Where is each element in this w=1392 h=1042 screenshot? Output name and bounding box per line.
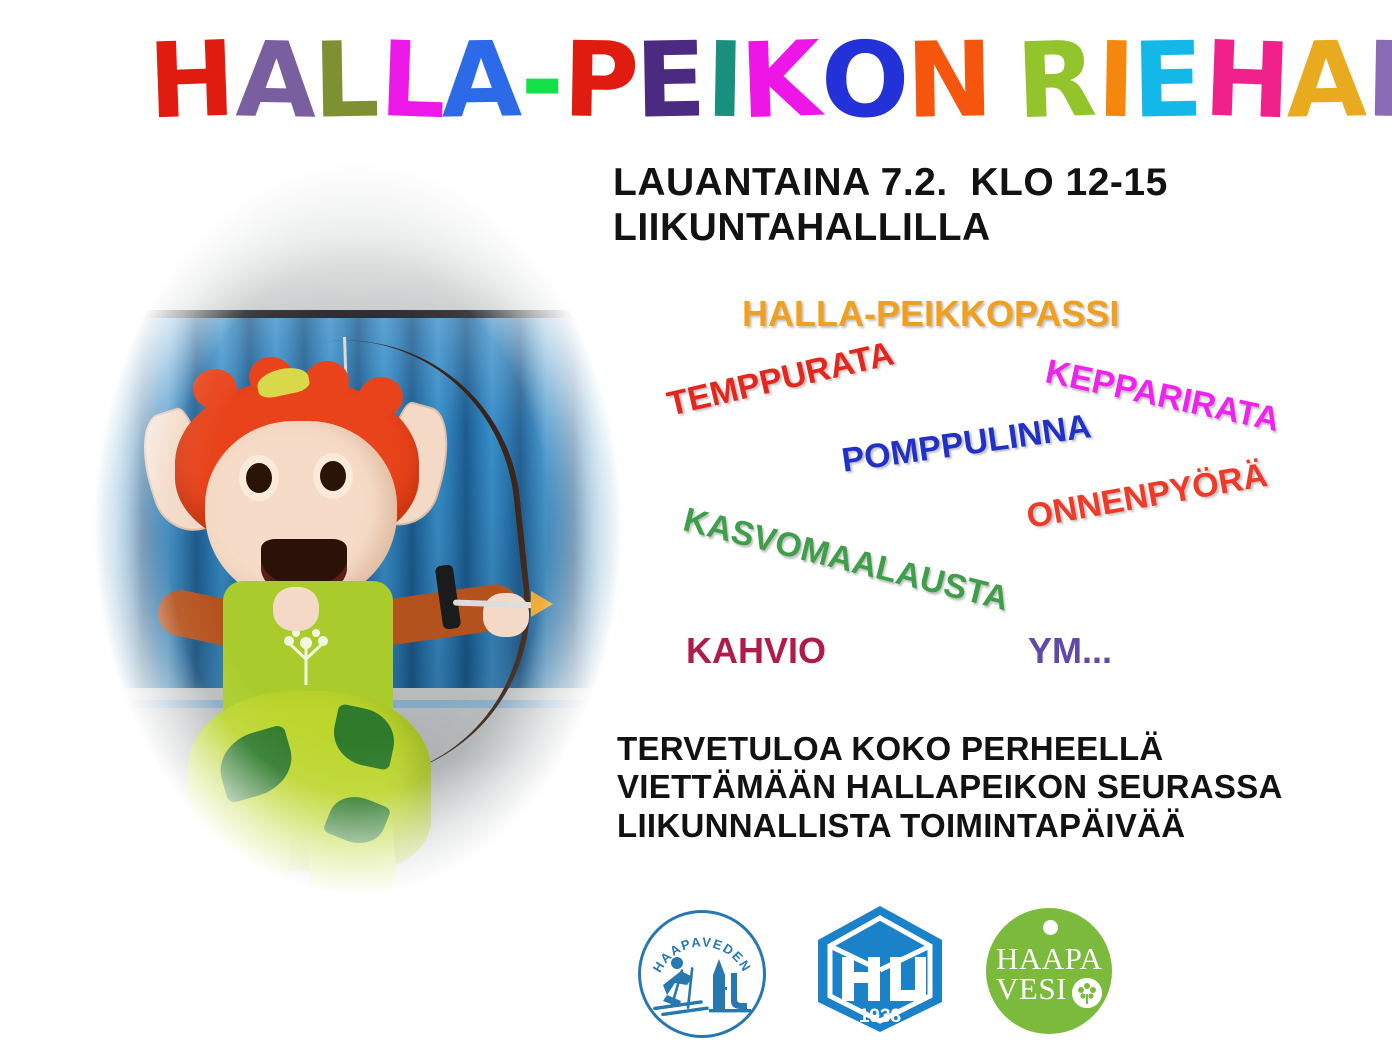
title-letter: H xyxy=(146,27,235,134)
hair-tuft xyxy=(193,369,237,409)
title-letter: N xyxy=(905,27,992,132)
title-letter: A xyxy=(235,27,315,132)
title-letter: P xyxy=(1365,27,1392,132)
title-letter: L xyxy=(312,27,378,132)
haapaveden-latu-logo: HAAPAVEDEN xyxy=(638,910,766,1038)
title-letter: P xyxy=(562,27,638,132)
title-letter: I xyxy=(1096,28,1135,133)
title-letter: - xyxy=(521,28,562,132)
hair-tuft xyxy=(359,377,403,417)
title-letter: E xyxy=(1131,27,1202,132)
flower-emblem xyxy=(275,625,337,687)
title-letter: O xyxy=(820,27,908,132)
title-letter: K xyxy=(738,27,820,134)
title-letter: R xyxy=(1014,27,1096,134)
tree-emblem-icon xyxy=(1072,978,1102,1008)
svg-text:1938: 1938 xyxy=(859,1006,901,1027)
hand-right xyxy=(483,593,529,637)
page-title: HALLA-PEIKONRIEHAPÄIVÄ xyxy=(150,28,1380,144)
hair-tuft xyxy=(305,361,349,401)
skier-icon xyxy=(651,951,753,1021)
pupil-left xyxy=(246,463,272,493)
title-letter: A xyxy=(1285,27,1365,132)
welcome-text: TERVETULOA KOKO PERHEELLÄ VIETTÄMÄÄN HAL… xyxy=(617,730,1283,845)
halla-peikkopassi-label: HALLA-PEIKKOPASSI xyxy=(742,293,1119,335)
troll-mascot xyxy=(153,343,533,903)
activity-word: POMPPULINNA xyxy=(839,407,1093,481)
haapavesi-logo: HAAPA VESI xyxy=(986,908,1112,1034)
logo-strip: HAAPAVEDEN xyxy=(630,898,1150,1033)
mascot-photo xyxy=(58,128,658,928)
footer-word: KAHVIO xyxy=(686,630,826,672)
title-letter: A xyxy=(440,27,520,132)
activity-word: TEMPPURATA xyxy=(664,335,898,425)
hu-1938-logo: 1938 xyxy=(812,902,948,1036)
footer-word: YM... xyxy=(1028,630,1112,672)
event-datetime: LAUANTAINA 7.2. KLO 12-15 LIIKUNTAHALLIL… xyxy=(613,160,1168,250)
activity-word: ONNENPYÖRÄ xyxy=(1024,456,1271,537)
poster-canvas: HALLA-PEIKONRIEHAPÄIVÄ xyxy=(0,0,1392,1042)
title-letter: E xyxy=(634,27,705,132)
hand-left xyxy=(273,587,319,631)
gym-wall xyxy=(58,128,658,318)
mascot-photo-inner xyxy=(58,128,658,928)
haapavesi-line1: HAAPA xyxy=(996,944,1102,974)
haapavesi-hole xyxy=(1043,920,1058,935)
title-letter: H xyxy=(1202,27,1291,134)
pupil-right xyxy=(320,461,346,491)
arrow-tip xyxy=(531,591,553,617)
title-letter: L xyxy=(378,27,446,133)
title-letter: I xyxy=(705,28,744,133)
activity-word: KASVOMAALAUSTA xyxy=(679,501,1012,620)
